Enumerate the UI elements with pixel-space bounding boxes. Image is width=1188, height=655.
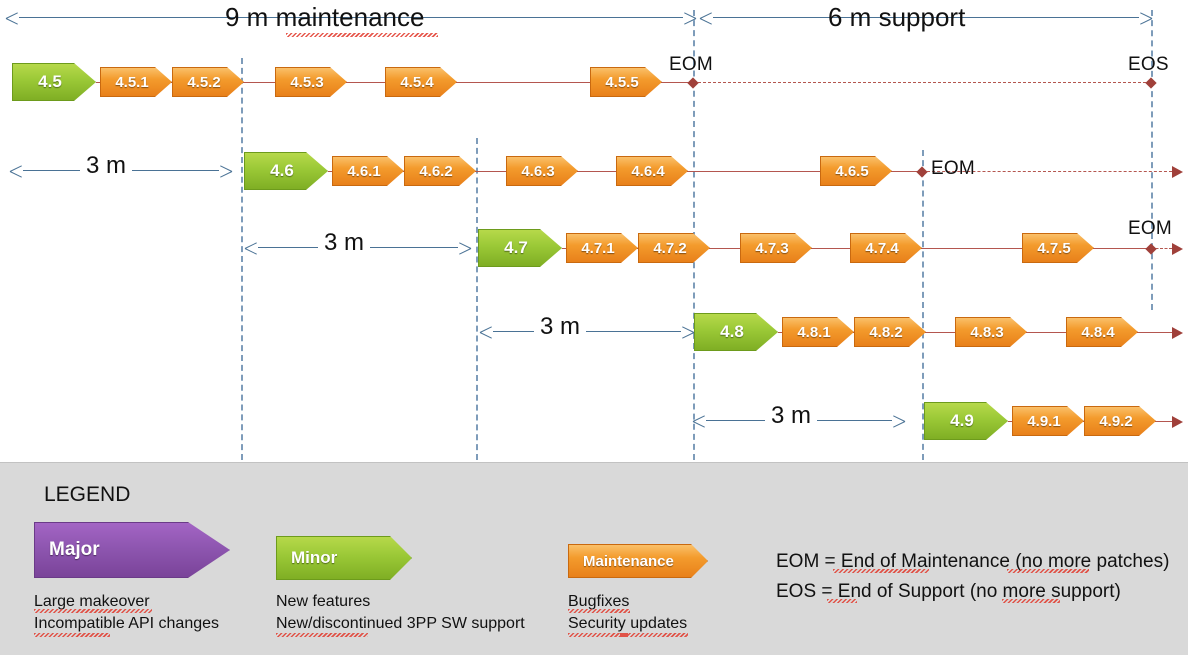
legend-chevron-label: Maintenance: [569, 553, 707, 570]
release-chevron-4.5[interactable]: 4.5: [12, 63, 96, 101]
spellcheck-squiggle-keys-0: [833, 569, 929, 573]
legend-chevron-label: Major: [35, 539, 229, 561]
spellcheck-squiggle-legend-0: [34, 609, 152, 613]
legend-chevron-minor: Minor: [276, 536, 412, 580]
release-timeline-diagram: 9 m maintenance6 m supportEOMEOS4.54.5.1…: [0, 0, 1188, 654]
offset-span-row-4.8: 3 m: [480, 322, 694, 342]
release-chevron-label: 4.5.5: [591, 74, 661, 91]
release-chevron-4.6.3[interactable]: 4.6.3: [506, 156, 578, 186]
release-chevron-label: 4.7.2: [639, 240, 709, 257]
timeline-area: 9 m maintenance6 m supportEOMEOS4.54.5.1…: [0, 0, 1188, 460]
release-chevron-4.8.2[interactable]: 4.8.2: [854, 317, 926, 347]
release-chevron-label: 4.7.4: [851, 240, 921, 257]
release-chevron-label: 4.6: [245, 161, 327, 181]
legend-title: LEGEND: [44, 483, 130, 507]
legend-description-major: Large makeoverIncompatible API changes: [34, 591, 219, 635]
legend-abbreviation-keys: EOM = End of Maintenance (no more patche…: [776, 547, 1169, 607]
release-chevron-label: 4.6.5: [821, 163, 891, 180]
release-chevron-label: 4.8.4: [1067, 324, 1137, 341]
spellcheck-squiggle-maintenance: [286, 33, 438, 37]
release-chevron-4.5.5[interactable]: 4.5.5: [590, 67, 662, 97]
release-chevron-label: 4.5.4: [386, 74, 456, 91]
release-chevron-4.6.2[interactable]: 4.6.2: [404, 156, 476, 186]
spellcheck-squiggle-keys-1: [1007, 569, 1089, 573]
release-chevron-4.8.1[interactable]: 4.8.1: [782, 317, 854, 347]
release-chevron-4.7.1[interactable]: 4.7.1: [566, 233, 638, 263]
release-chevron-label: 4.8.1: [783, 324, 853, 341]
legend-chevron-major: Major: [34, 522, 230, 578]
release-chevron-label: 4.7.3: [741, 240, 811, 257]
spellcheck-squiggle-legend-1: [34, 633, 110, 637]
release-chevron-4.5.1[interactable]: 4.5.1: [100, 67, 172, 97]
vertical-guide-guide-4.9-start: [922, 150, 924, 460]
legend-description-maintenance: BugfixesSecurity updates: [568, 591, 687, 635]
milestone-marker-eom-row-4.7: [1145, 243, 1156, 254]
offset-span-row-4.7: 3 m: [245, 238, 471, 258]
header-span-label-maintenance: 9 m maintenance: [225, 2, 424, 33]
offset-span-label-row-4.9: 3 m: [765, 402, 817, 430]
release-chevron-label: 4.6.1: [333, 163, 403, 180]
milestone-label-eom-row-4.7: EOM: [1128, 218, 1172, 240]
legend-panel: LEGEND MajorLarge makeoverIncompatible A…: [0, 462, 1188, 655]
offset-span-label-row-4.8: 3 m: [534, 313, 586, 341]
release-chevron-label: 4.9.2: [1085, 413, 1155, 430]
release-chevron-4.7.2[interactable]: 4.7.2: [638, 233, 710, 263]
offset-span-row-4.6: 3 m: [10, 161, 232, 181]
release-chevron-label: 4.8.3: [956, 324, 1026, 341]
release-chevron-4.9[interactable]: 4.9: [924, 402, 1008, 440]
release-chevron-label: 4.5.1: [101, 74, 171, 91]
spellcheck-squiggle-legend-5: [568, 633, 628, 637]
release-chevron-4.7.5[interactable]: 4.7.5: [1022, 233, 1094, 263]
timeline-arrowhead-row-4.6: [1172, 166, 1183, 178]
offset-span-row-4.9: 3 m: [693, 411, 905, 431]
milestone-label-eom-row-4.6: EOM: [931, 158, 975, 180]
release-chevron-4.8.3[interactable]: 4.8.3: [955, 317, 1027, 347]
legend-description-minor: New featuresNew/discontinued 3PP SW supp…: [276, 591, 525, 635]
vertical-guide-guide-4.7-start: [476, 138, 478, 460]
legend-description-line: Incompatible API changes: [34, 613, 219, 635]
milestone-label-eom-row-4.5: EOM: [669, 54, 713, 76]
legend-description-line: Security updates: [568, 613, 687, 635]
release-chevron-4.5.3[interactable]: 4.5.3: [275, 67, 347, 97]
timeline-arrowhead-row-4.8: [1172, 327, 1183, 339]
release-chevron-label: 4.8: [695, 322, 777, 342]
release-chevron-4.7.4[interactable]: 4.7.4: [850, 233, 922, 263]
milestone-label-eos-row-4.5: EOS: [1128, 54, 1169, 76]
release-chevron-4.5.4[interactable]: 4.5.4: [385, 67, 457, 97]
release-chevron-4.5.2[interactable]: 4.5.2: [172, 67, 244, 97]
legend-chevron-maintenance: Maintenance: [568, 544, 708, 578]
release-chevron-4.6.4[interactable]: 4.6.4: [616, 156, 688, 186]
milestone-marker-eom-row-4.6: [916, 166, 927, 177]
release-chevron-4.7.3[interactable]: 4.7.3: [740, 233, 812, 263]
support-line-row-4.5: [693, 82, 1151, 83]
release-chevron-4.7[interactable]: 4.7: [478, 229, 562, 267]
offset-span-label-row-4.6: 3 m: [80, 152, 132, 180]
header-span-label-support: 6 m support: [828, 2, 965, 33]
milestone-marker-eos-row-4.5: [1145, 77, 1156, 88]
release-chevron-label: 4.9.1: [1013, 413, 1083, 430]
release-chevron-label: 4.5.3: [276, 74, 346, 91]
release-chevron-label: 4.5: [13, 72, 95, 92]
spellcheck-squiggle-legend-6: [620, 633, 688, 637]
release-chevron-label: 4.7.5: [1023, 240, 1093, 257]
release-chevron-label: 4.8.2: [855, 324, 925, 341]
spellcheck-squiggle-keys-3: [1002, 599, 1060, 603]
timeline-arrowhead-row-4.9: [1172, 416, 1183, 428]
release-chevron-label: 4.6.2: [405, 163, 475, 180]
release-chevron-label: 4.7.1: [567, 240, 637, 257]
legend-description-line: New features: [276, 591, 525, 613]
spellcheck-squiggle-legend-3: [276, 633, 368, 637]
offset-span-label-row-4.7: 3 m: [318, 229, 370, 257]
release-chevron-4.6.5[interactable]: 4.6.5: [820, 156, 892, 186]
spellcheck-squiggle-keys-2: [827, 599, 857, 603]
milestone-marker-eom-row-4.5: [687, 77, 698, 88]
timeline-arrowhead-row-4.7: [1172, 243, 1183, 255]
release-chevron-label: 4.9: [925, 411, 1007, 431]
release-chevron-4.6[interactable]: 4.6: [244, 152, 328, 190]
spellcheck-squiggle-legend-4: [568, 609, 630, 613]
release-chevron-4.9.1[interactable]: 4.9.1: [1012, 406, 1084, 436]
legend-description-line: New/discontinued 3PP SW support: [276, 613, 525, 635]
release-chevron-4.9.2[interactable]: 4.9.2: [1084, 406, 1156, 436]
release-chevron-4.8[interactable]: 4.8: [694, 313, 778, 351]
release-chevron-label: 4.6.3: [507, 163, 577, 180]
release-chevron-label: 4.6.4: [617, 163, 687, 180]
legend-chevron-label: Minor: [277, 548, 411, 568]
release-chevron-label: 4.7: [479, 238, 561, 258]
release-chevron-4.6.1[interactable]: 4.6.1: [332, 156, 404, 186]
vertical-guide-guide-4.6-start: [241, 58, 243, 460]
release-chevron-label: 4.5.2: [173, 74, 243, 91]
release-chevron-4.8.4[interactable]: 4.8.4: [1066, 317, 1138, 347]
